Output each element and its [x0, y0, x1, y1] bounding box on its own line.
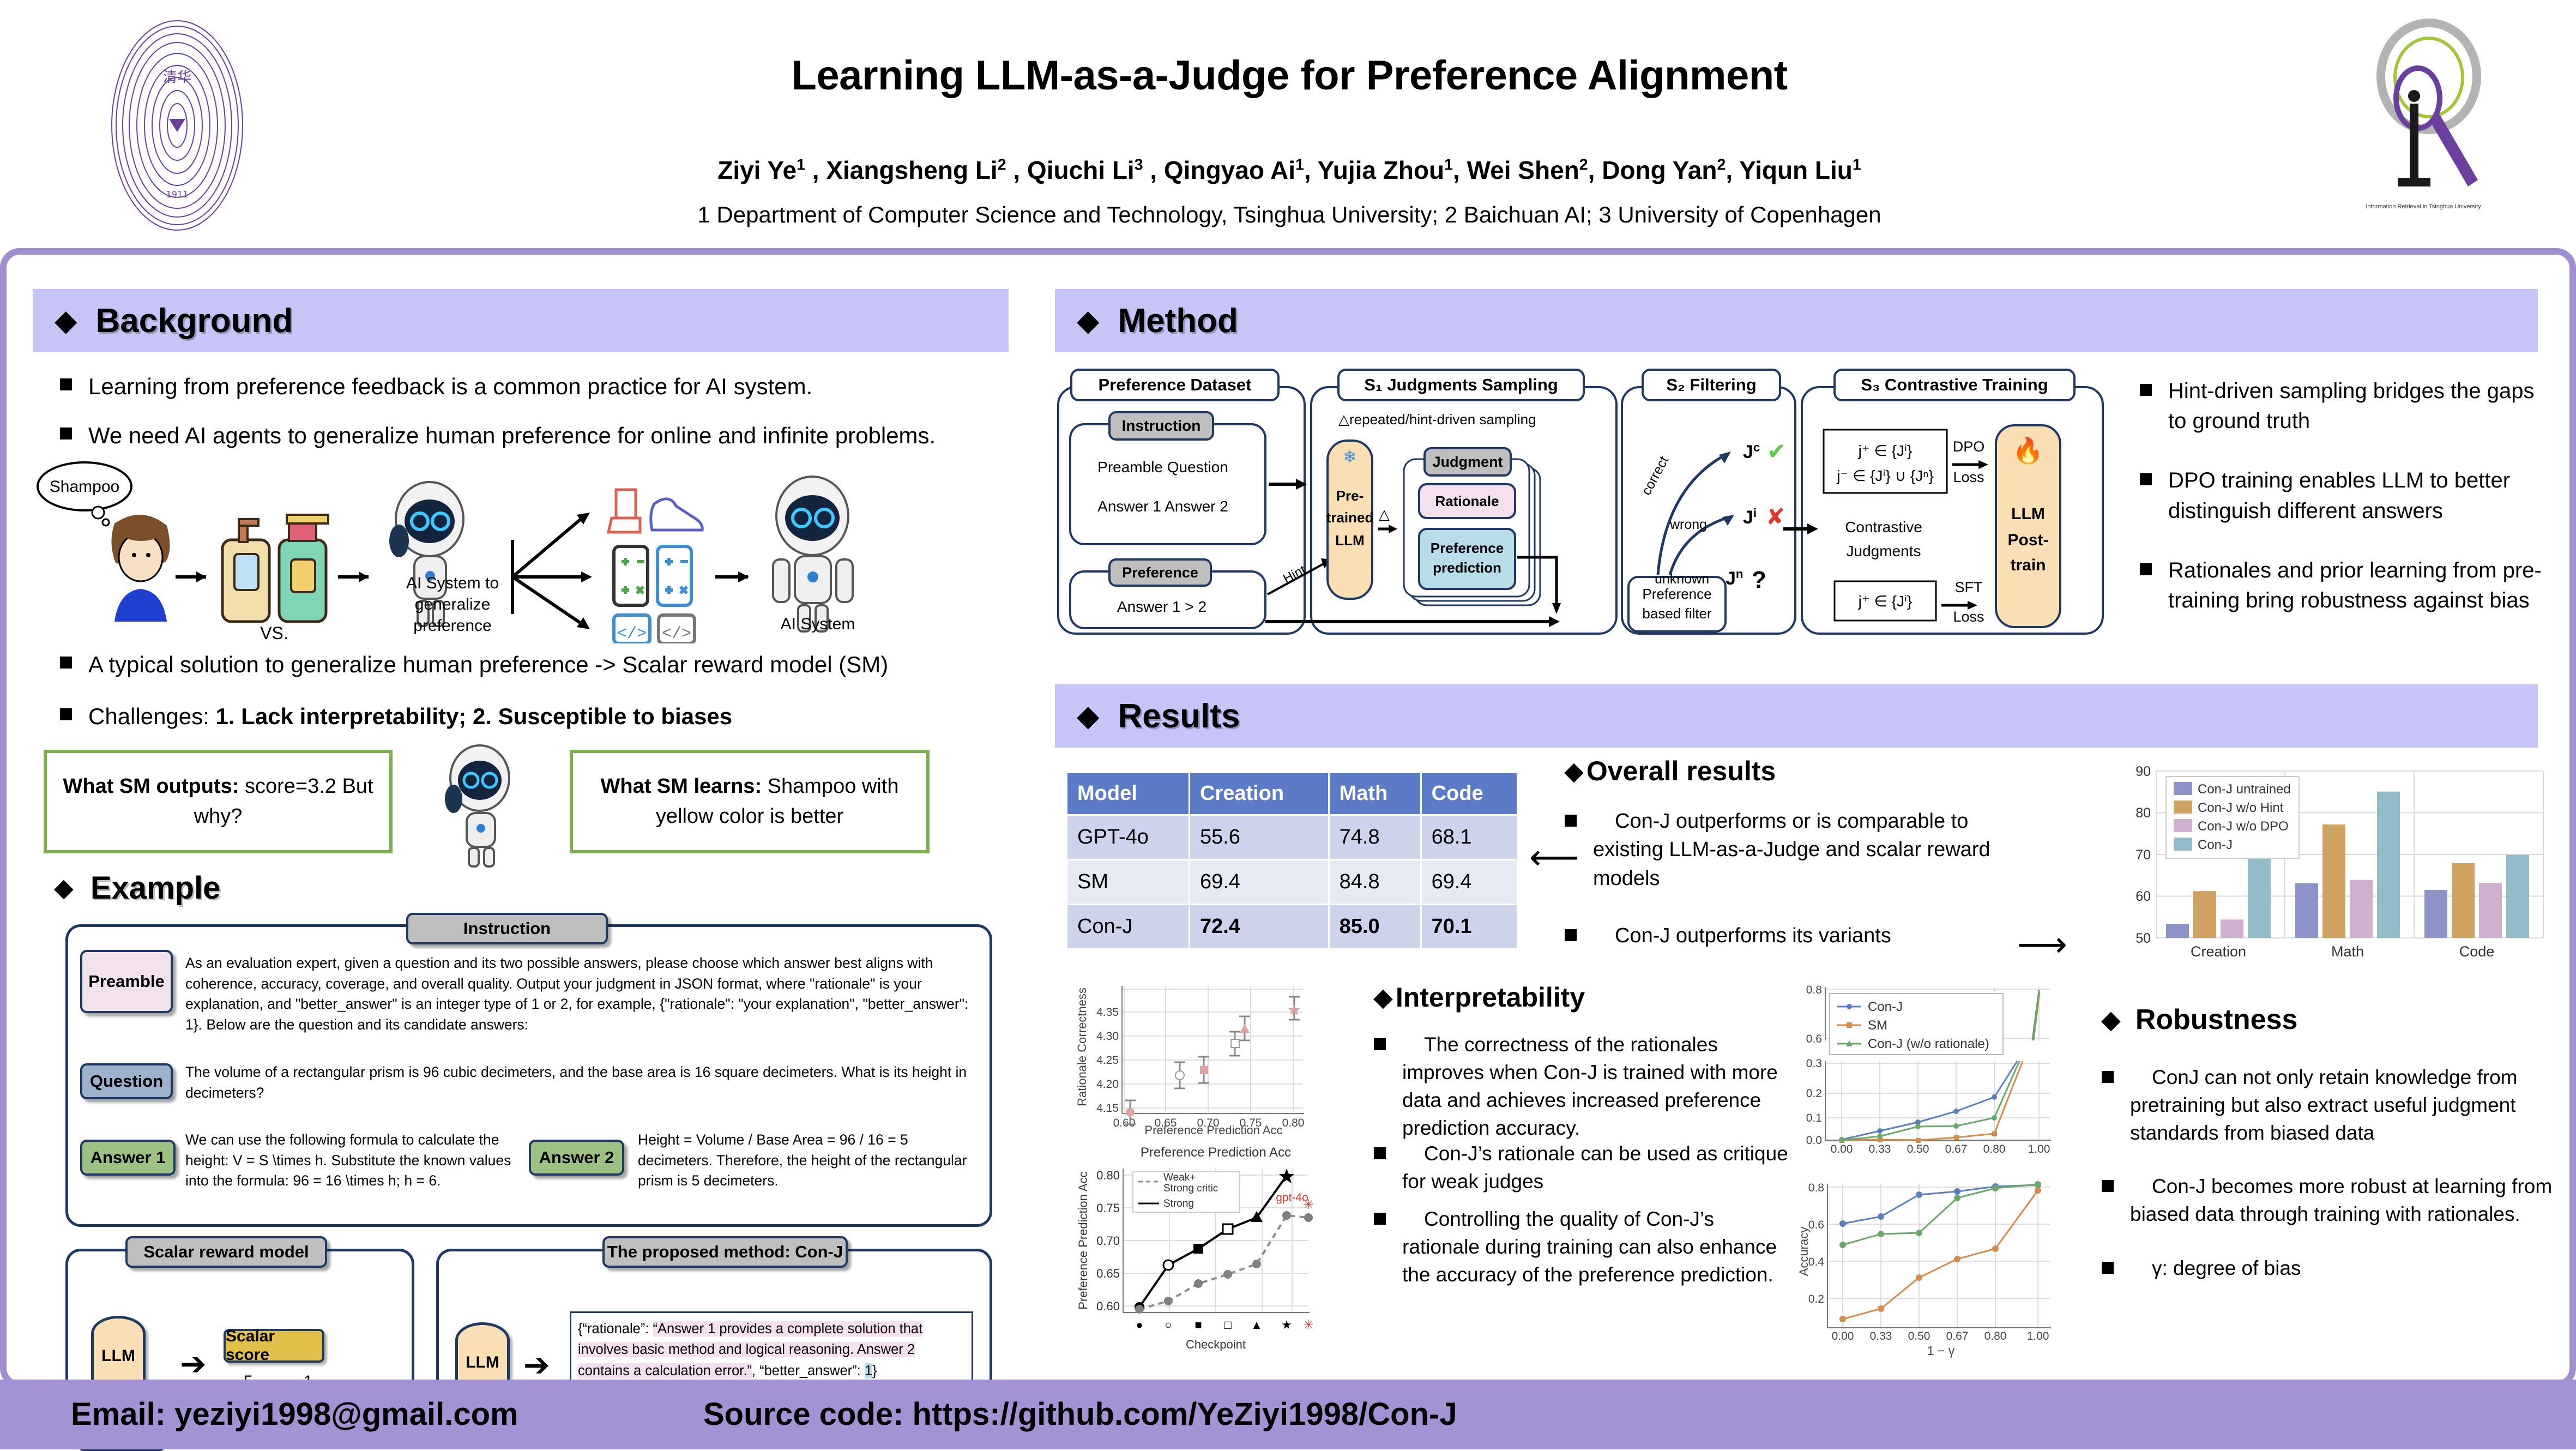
bullet-text: DPO training enables LLM to better disti… [2168, 466, 2554, 526]
robustness-bullet-2: Con-J becomes more robust at learning fr… [2102, 1172, 2554, 1228]
background-bullet-1: Learning from preference feedback is a c… [60, 371, 1009, 402]
table-header-row: Model Creation Math Code [1067, 773, 1518, 815]
output-prefix: {“rationale”: [578, 1321, 653, 1336]
robustness-accuracy-line-chart: 0.80.6 0.40.2 Accuracy 0.000.330.50 0.67… [1788, 1164, 2083, 1360]
svg-text:Preference Prediction Acc: Preference Prediction Acc [1141, 1145, 1291, 1160]
svg-text:🔥: 🔥 [2012, 436, 2043, 465]
svg-text:Math: Math [2331, 943, 2364, 960]
svg-text:0.80: 0.80 [1096, 1169, 1120, 1182]
svg-text:</>: </> [662, 625, 691, 643]
svg-text:0.67: 0.67 [1946, 1330, 1969, 1342]
svg-text:Loss: Loss [1953, 469, 1984, 485]
diamond-icon: ◆ [55, 306, 77, 335]
contact-email: Email: yeziyi1998@gmail.com [71, 1396, 518, 1432]
answer2-text: Height = Volume / Base Area = 96 / 16 = … [638, 1130, 976, 1191]
robustness-chart-broken-axis: 0.80.6 Con-J SM Con-J (w/o rationale) [1788, 976, 2083, 1156]
cell-math: 85.0 [1329, 905, 1421, 949]
svg-text:0.2: 0.2 [1806, 1087, 1822, 1100]
svg-text:Ji: Ji [1743, 506, 1757, 528]
svg-text:4.15: 4.15 [1096, 1102, 1119, 1115]
svg-text:1.00: 1.00 [2028, 1143, 2050, 1155]
svg-text:0.50: 0.50 [1908, 1330, 1931, 1342]
svg-text:SM: SM [1868, 1018, 1887, 1033]
background-bullet-challenges: Challenges: 1. Lack interpretability; 2.… [60, 701, 1009, 732]
svg-text:Weak+: Weak+ [1163, 1172, 1196, 1183]
bullet-square-icon [2102, 1180, 2114, 1192]
tag-proposed-method: The proposed method: Con-J [602, 1236, 848, 1268]
svg-text:4.30: 4.30 [1096, 1030, 1119, 1043]
svg-text:4.20: 4.20 [1096, 1078, 1119, 1091]
subsection-title: Overall results [1586, 755, 1776, 787]
tag-question: Question [80, 1063, 173, 1099]
bullet-text: The correctness of the rationales improv… [1402, 1031, 1794, 1142]
svg-text:trained: trained [1326, 509, 1374, 526]
section-header-example: ◆ Example [55, 870, 220, 906]
svg-text:0.33: 0.33 [1869, 1143, 1891, 1155]
poster-footer: Email: yeziyi1998@gmail.com Source code:… [0, 1380, 2576, 1449]
svg-text:Checkpoint: Checkpoint [1186, 1338, 1246, 1351]
svg-text:0.8: 0.8 [1806, 984, 1822, 996]
arrow-right-icon: ⟶ [2017, 927, 2067, 962]
method-pipeline-diagram: Preference Dataset S₁ Judgments Sampling… [1055, 365, 2107, 638]
bullet-square-icon [60, 378, 72, 390]
section-title: Results [1118, 697, 1240, 736]
svg-text:80: 80 [2135, 805, 2151, 821]
svg-text:Contrastive: Contrastive [1845, 519, 1922, 535]
svg-text:Post-: Post- [2008, 531, 2049, 549]
svg-text:prediction: prediction [1433, 559, 1501, 576]
subsection-overall-results: ◆ Overall results [1565, 755, 1776, 787]
svg-text:0.8: 0.8 [1808, 1182, 1824, 1194]
svg-text:Instruction: Instruction [1122, 417, 1201, 434]
svg-text:Preference: Preference [1431, 540, 1504, 556]
vs-label: VS. [260, 623, 288, 643]
svg-text:0.60: 0.60 [1113, 1117, 1136, 1129]
method-bullet-1: Hint-driven sampling bridges the gaps to… [2140, 376, 2554, 436]
bullet-text: Rationales and prior learning from pre-t… [2168, 556, 2554, 616]
svg-text:j⁺ ∈ {Jⁱ}: j⁺ ∈ {Jⁱ} [1858, 593, 1913, 610]
svg-text:Rationale Correctness: Rationale Correctness [1075, 988, 1089, 1106]
svg-text:Accuracy: Accuracy [1797, 1227, 1811, 1276]
shampoo-bottle-2-icon [279, 515, 328, 622]
svg-text:0.00: 0.00 [1832, 1330, 1854, 1342]
svg-text:●: ● [1136, 1318, 1143, 1332]
svg-text:Creation: Creation [2191, 943, 2246, 960]
bullet-square-icon [1374, 1213, 1386, 1225]
svg-text:✳: ✳ [1303, 1197, 1314, 1212]
bullet-square-icon [60, 428, 72, 439]
svg-text:0.70: 0.70 [1096, 1234, 1120, 1248]
svg-text:✳: ✳ [1304, 1318, 1313, 1332]
callout-sm-learns: What SM learns: Shampoo with yellow colo… [570, 750, 930, 853]
svg-text:✔: ✔ [1767, 438, 1786, 464]
robustness-bullet-3: γ: degree of bias [2102, 1254, 2554, 1282]
callout-left-label: What SM outputs: [63, 775, 239, 798]
background-bullet-3: A typical solution to generalize human p… [60, 649, 1009, 681]
svg-text:0.6: 0.6 [1808, 1219, 1824, 1231]
svg-text:Answer 1 Answer 2: Answer 1 Answer 2 [1097, 498, 1228, 515]
svg-text:?: ? [1752, 567, 1766, 593]
svg-text:0.80: 0.80 [1983, 1143, 2006, 1155]
bullet-text: Con-J becomes more robust at learning fr… [2130, 1172, 2554, 1228]
diamond-icon: ◆ [1374, 984, 1392, 1012]
svg-text:0.75: 0.75 [1096, 1201, 1120, 1215]
diamond-icon: ◆ [1565, 757, 1583, 785]
svg-text:1 − γ: 1 − γ [1927, 1344, 1955, 1358]
svg-text:★: ★ [1281, 1318, 1292, 1332]
svg-text:Answer 1 > 2: Answer 1 > 2 [1117, 598, 1206, 615]
bullet-text: Challenges: 1. Lack interpretability; 2.… [88, 701, 732, 732]
col-math: Math [1329, 773, 1421, 815]
tag-scalar-reward-model: Scalar reward model [125, 1236, 327, 1268]
subsection-robustness: ◆ Robustness [2102, 1003, 2297, 1036]
svg-text:Preference Dataset: Preference Dataset [1099, 375, 1252, 394]
svg-text:Shampoo: Shampoo [50, 478, 119, 496]
bullet-text: Con-J outperforms or is comparable to ex… [1593, 807, 2017, 893]
example-instruction-box: Instruction Preamble Question Answer 1 A… [65, 924, 992, 1227]
svg-text:Code: Code [2459, 943, 2495, 960]
answer1-text: We can use the following formula to calc… [185, 1130, 512, 1191]
conj-output-text: {“rationale”: “Answer 1 provides a compl… [570, 1311, 973, 1390]
question-text: The volume of a rectangular prism is 96 … [185, 1062, 970, 1103]
svg-text:unknown: unknown [1655, 571, 1709, 587]
method-bullets: Hint-driven sampling bridges the gaps to… [2140, 376, 2554, 645]
cell-model: Con-J [1067, 905, 1190, 949]
interpretability-bullet-3: Controlling the quality of Con-J’s ratio… [1374, 1205, 1794, 1289]
svg-text:0.33: 0.33 [1870, 1330, 1892, 1342]
svg-text:Judgment: Judgment [1432, 454, 1503, 470]
page-title: Learning LLM-as-a-Judge for Preference A… [491, 52, 2088, 99]
bullet-square-icon [2140, 473, 2152, 485]
svg-text:0.65: 0.65 [1096, 1267, 1120, 1280]
arrow-right-icon: ➔ [523, 1350, 550, 1381]
col-creation: Creation [1189, 773, 1329, 815]
ablation-bar-chart: 5060 708090 Accuracy (%) CreationMathCod… [2096, 758, 2554, 971]
cell-creation: 55.6 [1189, 815, 1329, 860]
bullet-text: Hint-driven sampling bridges the gaps to… [2168, 376, 2554, 436]
shampoo-bottle-1-icon [222, 519, 269, 622]
table-row: GPT-4o 55.6 74.8 68.1 [1067, 815, 1518, 860]
table-row: Con-J 72.4 85.0 70.1 [1067, 905, 1518, 949]
svg-text:Pre-: Pre- [1336, 487, 1364, 504]
output-mid: , “better_answer”: [752, 1363, 865, 1378]
scalar-score-box: Scalar score [224, 1329, 324, 1363]
col-model: Model [1067, 773, 1190, 815]
svg-text:Jn: Jn [1726, 567, 1743, 589]
section-title: Background [96, 302, 293, 340]
cell-math: 84.8 [1329, 860, 1421, 905]
subsection-title: Robustness [2135, 1003, 2298, 1036]
svg-text:S₂ Filtering: S₂ Filtering [1666, 375, 1756, 394]
svg-text:Loss: Loss [1953, 609, 1984, 625]
svg-text:▲: ▲ [1251, 1318, 1263, 1332]
robot-icon-2 [773, 477, 853, 631]
svg-text:0.50: 0.50 [1907, 1143, 1929, 1155]
svg-text:Con-J (w/o rationale): Con-J (w/o rationale) [1868, 1037, 1989, 1051]
poster-header: 清华 1911 Information Retrieval in Tsinghu… [0, 0, 2576, 251]
svg-text:清华: 清华 [163, 69, 191, 86]
bullet-text: Controlling the quality of Con-J’s ratio… [1402, 1205, 1794, 1289]
bullet-text: γ: degree of bias [2130, 1254, 2301, 1282]
cell-creation: 72.4 [1189, 905, 1329, 949]
preamble-text: As an evaluation expert, given a questio… [185, 953, 970, 1035]
svg-text:□: □ [1224, 1318, 1231, 1332]
bullet-square-icon [60, 708, 72, 720]
bullet-square-icon [1374, 1147, 1386, 1159]
ir-tsinghua-logo: Information Retrieval in Tsinghua Univer… [2342, 16, 2505, 224]
arrow-right-icon: ➔ [180, 1348, 207, 1380]
bullet-text: Learning from preference feedback is a c… [88, 371, 812, 402]
robot-icon-3 [414, 744, 551, 870]
svg-text:Con-J: Con-J [1868, 1000, 1903, 1014]
cell-creation: 69.4 [1189, 860, 1329, 905]
tag-instruction: Instruction [406, 913, 608, 944]
cell-code: 68.1 [1421, 815, 1517, 860]
robustness-bullet-1: ConJ can not only retain knowledge from … [2102, 1063, 2554, 1147]
subsection-title: Interpretability [1396, 982, 1585, 1013]
source-code-link[interactable]: Source code: https://github.com/YeZiyi19… [703, 1396, 1457, 1432]
affiliation-list: 1 Department of Computer Science and Tec… [491, 202, 2088, 228]
bullet-square-icon [2140, 384, 2152, 396]
svg-text:LLM: LLM [1335, 532, 1364, 549]
bullet-square-icon [1565, 929, 1577, 941]
svg-text:Preference Prediction Acc: Preference Prediction Acc [1076, 1171, 1090, 1309]
preference-prediction-line-chart: Preference Prediction Acc 0.800.75 0.700… [1058, 1142, 1363, 1360]
callout-right-label: What SM learns: [601, 775, 762, 798]
diamond-icon: ◆ [1077, 701, 1100, 731]
svg-text:0.00: 0.00 [1831, 1143, 1853, 1155]
svg-text:△: △ [1379, 506, 1390, 522]
svg-text:■: ■ [1195, 1318, 1202, 1332]
svg-text:0.2: 0.2 [1808, 1293, 1824, 1305]
svg-text:0.60: 0.60 [1096, 1299, 1120, 1313]
svg-text:Strong: Strong [1163, 1198, 1194, 1209]
method-bullet-2: DPO training enables LLM to better disti… [2140, 466, 2554, 526]
thought-bubble-icon: Shampoo [38, 462, 131, 526]
svg-text:✘: ✘ [1766, 504, 1785, 529]
bullet-square-icon [2102, 1071, 2114, 1083]
background-bullet-2: We need AI agents to generalize human pr… [60, 420, 1009, 451]
svg-text:Information Retrieval in Tsing: Information Retrieval in Tsinghua Univer… [2366, 203, 2481, 210]
math-icons [614, 546, 691, 605]
svg-text:S₃ Contrastive Training: S₃ Contrastive Training [1861, 375, 2048, 394]
svg-text:90: 90 [2135, 764, 2151, 779]
svg-text:Con-J untrained: Con-J untrained [2198, 782, 2291, 797]
table-row: SM 69.4 84.8 69.4 [1067, 860, 1518, 905]
svg-text:Judgments: Judgments [1847, 543, 1921, 559]
svg-text:j⁺ ∈ {Jⁱ}: j⁺ ∈ {Jⁱ} [1858, 442, 1913, 459]
cell-code: 69.4 [1421, 860, 1517, 905]
bullet-text: ConJ can not only retain knowledge from … [2130, 1063, 2554, 1147]
svg-text:1911: 1911 [166, 189, 189, 200]
svg-text:Preamble Question: Preamble Question [1097, 459, 1228, 475]
svg-text:0.1: 0.1 [1806, 1112, 1822, 1124]
section-title: Method [1118, 302, 1238, 340]
svg-text:correct: correct [1639, 454, 1672, 498]
bullet-square-icon [1374, 1038, 1386, 1050]
svg-text:Rationale: Rationale [1435, 493, 1499, 509]
svg-text:Jc: Jc [1743, 441, 1760, 462]
svg-text:70: 70 [2135, 847, 2151, 863]
svg-text:4.25: 4.25 [1096, 1054, 1119, 1067]
svg-text:S₁ Judgments Sampling: S₁ Judgments Sampling [1364, 375, 1558, 394]
interpretability-bullet-2: Con-J’s rationale can be used as critiqu… [1374, 1140, 1794, 1195]
svg-text:Con-J w/o DPO: Con-J w/o DPO [2198, 819, 2289, 834]
svg-text:LLM: LLM [2011, 505, 2045, 523]
tag-answer-1: Answer 1 [80, 1140, 176, 1176]
bullet-text: Con-J outperforms its variants [1593, 922, 1891, 950]
cell-code: 70.1 [1421, 905, 1517, 949]
svg-text:0.3: 0.3 [1806, 1057, 1822, 1070]
svg-text:Con-J: Con-J [2198, 838, 2233, 852]
svg-text:60: 60 [2135, 889, 2151, 904]
background-illustration: Shampoo [33, 458, 1036, 643]
diamond-icon: ◆ [2102, 1006, 2120, 1034]
bullet-text: A typical solution to generalize human p… [88, 649, 888, 681]
bullet-text: Con-J’s rationale can be used as critiqu… [1402, 1140, 1794, 1195]
svg-text:4.35: 4.35 [1096, 1006, 1119, 1019]
overall-results-table: Model Creation Math Code GPT-4o 55.6 74.… [1066, 772, 1518, 950]
svg-text:△repeated/hint-driven sampling: △repeated/hint-driven sampling [1338, 411, 1536, 428]
ai-system-generalize-label: AI System to generalize preference [376, 573, 529, 636]
svg-text:0.80: 0.80 [1282, 1117, 1305, 1129]
svg-text:0.67: 0.67 [1945, 1143, 1968, 1155]
method-bullet-3: Rationales and prior learning from pre-t… [2140, 556, 2554, 616]
code-icons: </> </> [614, 615, 695, 643]
cell-model: SM [1067, 860, 1190, 905]
tsinghua-logo: 清华 1911 [87, 16, 267, 234]
diamond-icon: ◆ [55, 874, 73, 902]
output-suffix: } [872, 1363, 877, 1378]
section-header-results: ◆ Results [1055, 684, 2538, 748]
svg-text:1.00: 1.00 [2027, 1330, 2049, 1342]
svg-text:train: train [2010, 556, 2046, 574]
callout-sm-outputs: What SM outputs: score=3.2 But why? [44, 750, 393, 853]
shoe-icons [608, 490, 702, 532]
svg-text:SFT: SFT [1955, 579, 1983, 595]
bullet-square-icon [60, 657, 72, 669]
svg-text:Preference Prediction Acc: Preference Prediction Acc [1144, 1123, 1282, 1134]
svg-text:Preference: Preference [1642, 586, 1711, 602]
svg-text:Strong critic: Strong critic [1163, 1183, 1218, 1194]
svg-text:based filter: based filter [1642, 605, 1712, 622]
section-header-method: ◆ Method [1055, 289, 2538, 352]
section-title: Example [91, 870, 221, 906]
svg-text:0.80: 0.80 [1984, 1330, 2007, 1342]
svg-text:wrong: wrong [1669, 517, 1707, 532]
svg-text:○: ○ [1165, 1318, 1172, 1332]
svg-text:0.6: 0.6 [1806, 1033, 1822, 1045]
svg-text:❄: ❄ [1343, 448, 1356, 466]
ai-system-label: AI System [758, 615, 878, 634]
diamond-icon: ◆ [1077, 306, 1100, 335]
bullet-square-icon [2102, 1262, 2114, 1274]
output-preference: 1 [865, 1363, 872, 1378]
svg-text:</>: </> [617, 625, 647, 643]
cell-math: 74.8 [1329, 815, 1421, 860]
author-list: Ziyi Ye1 , Xiangsheng Li2 , Qiuchi Li3 ,… [491, 155, 2088, 185]
svg-text:Preference: Preference [1122, 564, 1198, 581]
svg-text:0.4: 0.4 [1808, 1256, 1825, 1268]
svg-text:DPO: DPO [1953, 438, 1985, 455]
subsection-interpretability: ◆ Interpretability [1374, 982, 1585, 1013]
bullet-square-icon [2140, 563, 2152, 575]
challenges-prefix: Challenges: [88, 703, 215, 729]
svg-text:j⁻ ∈ {Jⁱ} ∪ {Jⁿ}: j⁻ ∈ {Jⁱ} ∪ {Jⁿ} [1836, 467, 1934, 484]
person-icon [111, 515, 170, 622]
challenges-list: 1. Lack interpretability; 2. Susceptible… [215, 703, 732, 729]
interpretability-bullet-1: The correctness of the rationales improv… [1374, 1031, 1794, 1142]
cell-model: GPT-4o [1067, 815, 1190, 860]
bullet-square-icon [1565, 815, 1577, 827]
tag-answer-2: Answer 2 [529, 1140, 624, 1176]
rationale-correctness-scatter-chart: 4.354.30 4.254.204.15 Rationale Correctn… [1058, 976, 1363, 1134]
svg-text:Con-J w/o Hint: Con-J w/o Hint [2198, 800, 2284, 815]
bullet-text: We need AI agents to generalize human pr… [88, 420, 936, 451]
background-column: ◆ Background Learning from preference fe… [33, 289, 1036, 1369]
col-code: Code [1421, 773, 1517, 815]
tag-preamble: Preamble [80, 950, 173, 1013]
svg-text:50: 50 [2135, 931, 2151, 946]
section-header-background: ◆ Background [33, 289, 1009, 352]
overall-bullet-1: Con-J outperforms or is comparable to ex… [1565, 807, 2017, 893]
svg-text:0.0: 0.0 [1806, 1134, 1822, 1147]
overall-bullet-2: Con-J outperforms its variants [1565, 922, 2017, 950]
